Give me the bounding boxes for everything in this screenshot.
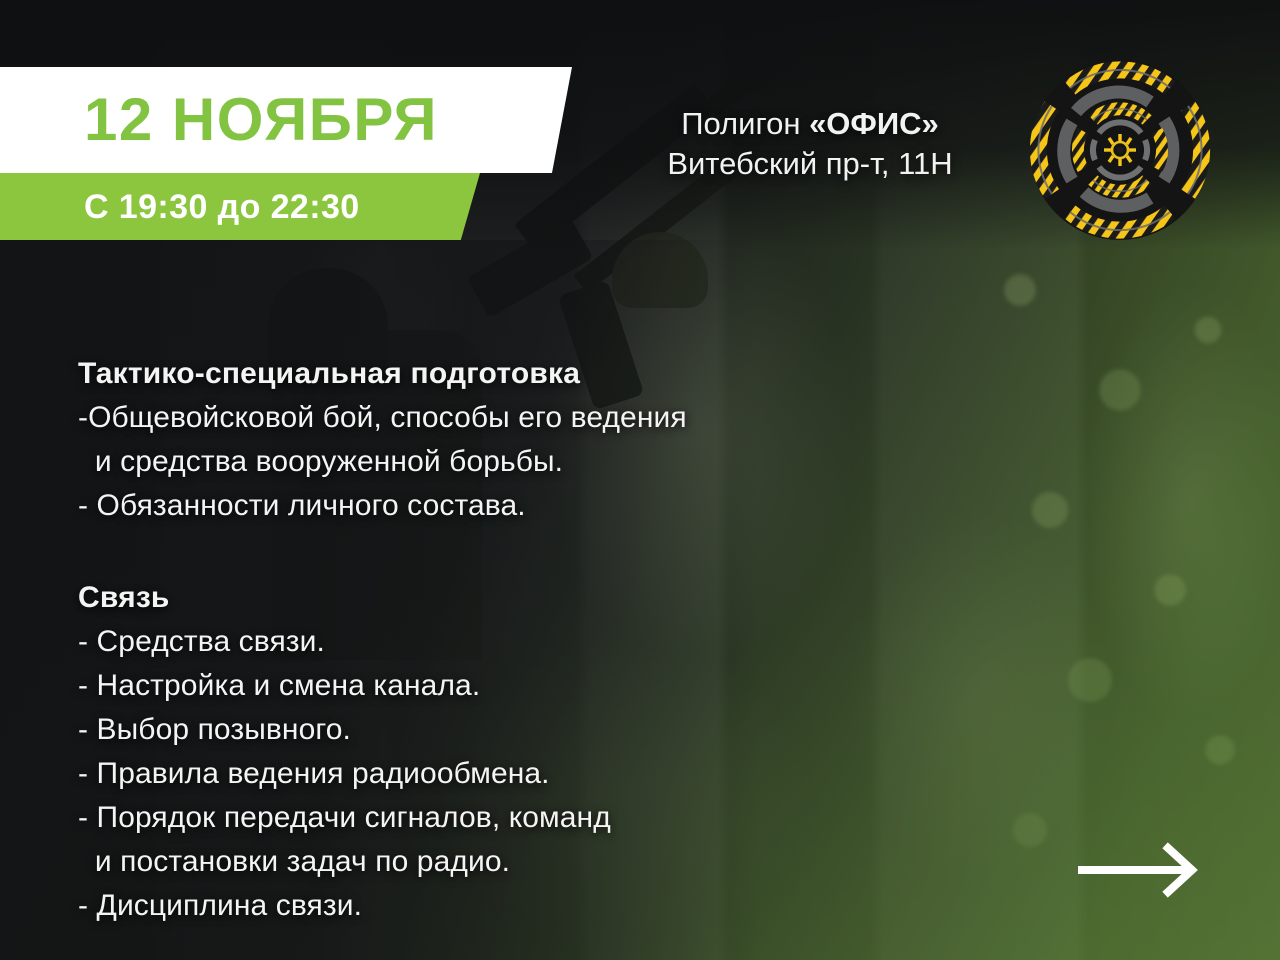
section-title: Связь (78, 576, 898, 620)
program-content: Тактико-специальная подготовка -Общевойс… (78, 352, 898, 928)
section-item: -Общевойсковой бой, способы его ведения (78, 396, 898, 440)
venue-line-1: Полигон «ОФИС» (600, 104, 1020, 144)
section-item: - Обязанности личного состава. (78, 484, 898, 528)
section-title: Тактико-специальная подготовка (78, 352, 898, 396)
poster-canvas: 12 НОЯБРЯ С 19:30 до 22:30 Полигон «ОФИС… (0, 0, 1280, 960)
date-banner-green-block: С 19:30 до 22:30 (0, 173, 480, 240)
section-spacer (78, 528, 898, 576)
section-communications: Связь - Средства связи. - Настройка и см… (78, 576, 898, 928)
section-item: - Настройка и смена канала. (78, 664, 898, 708)
section-item: - Порядок передачи сигналов, команд (78, 796, 898, 840)
section-item: и средства вооруженной борьбы. (78, 440, 898, 484)
section-item: - Средства связи. (78, 620, 898, 664)
venue-address: Витебский пр-т, 11Н (600, 144, 1020, 184)
event-time-text: С 19:30 до 22:30 (84, 190, 360, 224)
date-banner: 12 НОЯБРЯ С 19:30 до 22:30 (0, 67, 572, 240)
section-item: - Выбор позывного. (78, 708, 898, 752)
section-item: - Правила ведения радиообмена. (78, 752, 898, 796)
section-item: и постановки задач по радио. (78, 840, 898, 884)
venue-label: Полигон (681, 106, 809, 141)
section-item: - Дисциплина связи. (78, 884, 898, 928)
arrow-right-icon[interactable] (1074, 842, 1206, 898)
event-date-text: 12 НОЯБРЯ (84, 90, 438, 150)
date-banner-white-block: 12 НОЯБРЯ (0, 67, 572, 173)
venue-block: Полигон «ОФИС» Витебский пр-т, 11Н (600, 104, 1020, 183)
section-tactical: Тактико-специальная подготовка -Общевойс… (78, 352, 898, 528)
polygon-office-emblem-icon (1028, 58, 1212, 242)
venue-name: «ОФИС» (809, 106, 939, 141)
